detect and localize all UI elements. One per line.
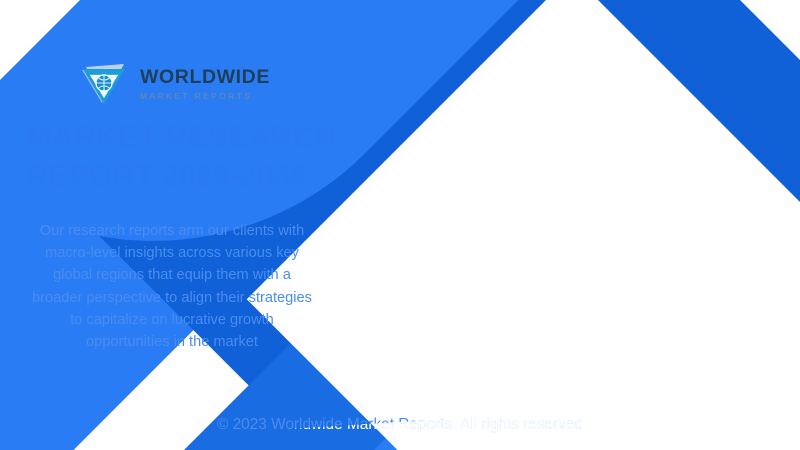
- worldwide-globe-triangle-logo-icon: [78, 58, 130, 110]
- brand-logo: WORLDWIDE MARKET REPORTS: [78, 58, 270, 110]
- page-title-line-2: REPORT 2023-2030: [26, 157, 346, 196]
- market-research-report-banner: WORLDWIDE MARKET REPORTS MARKET RESEARCH…: [0, 0, 800, 450]
- white-wedge-bottom-right: [620, 155, 800, 450]
- description-text: Our research reports arm our clients wit…: [32, 220, 312, 353]
- page-title-line-1: MARKET RESEARCH: [26, 118, 346, 157]
- brand-wordmark: WORLDWIDE MARKET REPORTS: [140, 68, 270, 101]
- page-title: MARKET RESEARCH REPORT 2023-2030: [26, 118, 346, 196]
- brand-name: WORLDWIDE: [140, 68, 270, 88]
- brand-tagline: MARKET REPORTS: [140, 92, 270, 100]
- banner-content: WORLDWIDE MARKET REPORTS MARKET RESEARCH…: [0, 0, 360, 450]
